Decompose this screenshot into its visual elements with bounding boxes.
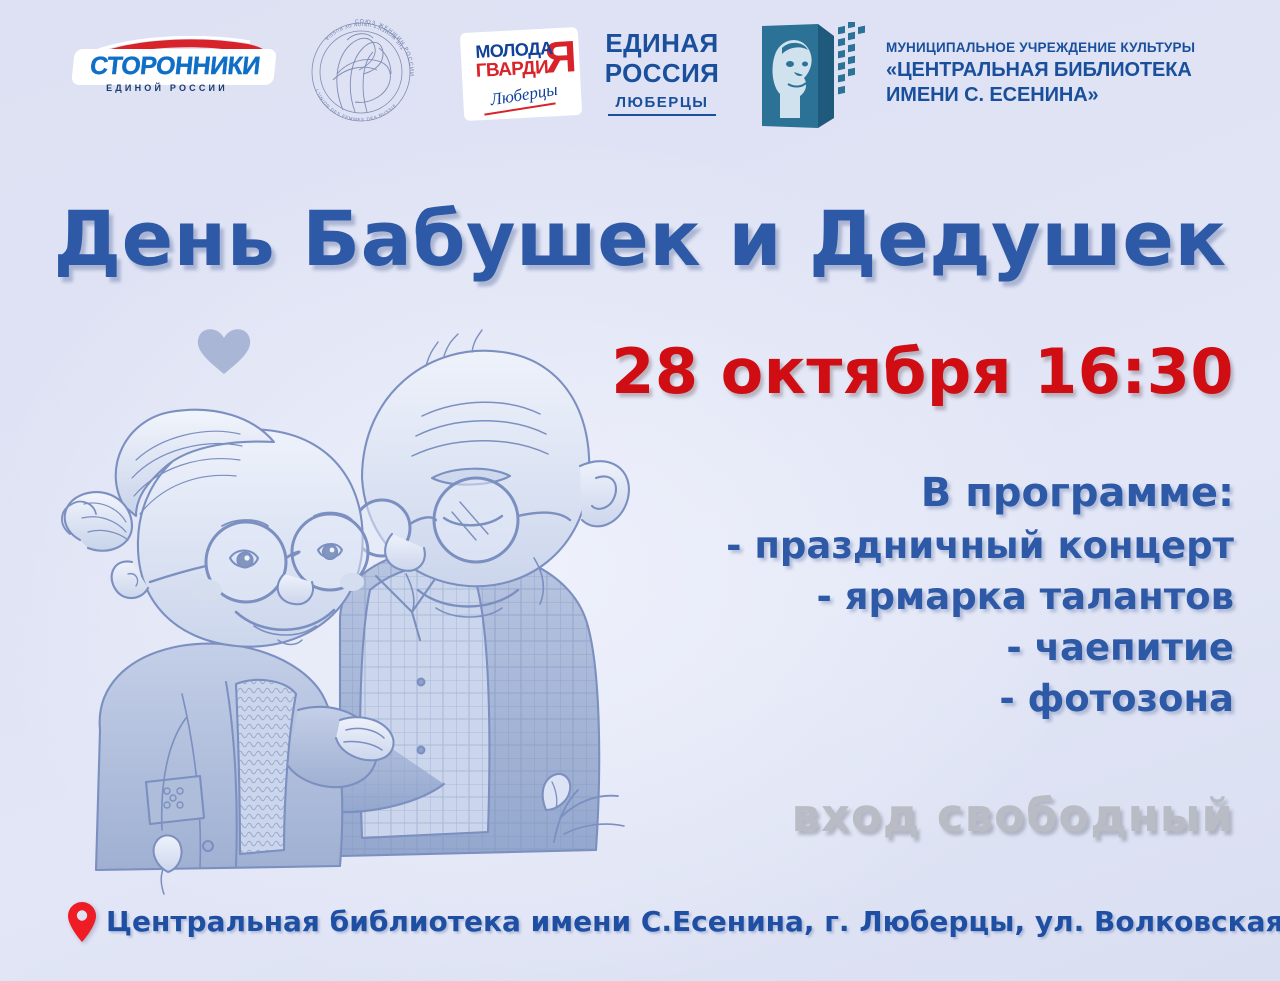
map-pin-icon [68,902,96,942]
library-line1: МУНИЦИПАЛЬНОЕ УЧРЕЖДЕНИЕ КУЛЬТУРЫ [886,38,1195,58]
library-esenin-mark-icon [760,22,870,130]
poster-canvas: СТОРОННИКИ ЕДИНОЙ РОССИИ [0,0,1280,981]
storonniki-subtitle: ЕДИНОЙ РОССИИ [82,83,252,93]
library-line3: ИМЕНИ С. ЕСЕНИНА» [886,83,1195,108]
program-item: - фотозона [674,673,1234,724]
edinaya-rossiya-line2: РОССИЯ [592,58,732,88]
program-block: В программе: - праздничный концерт - ярм… [674,466,1234,724]
program-heading: В программе: [674,466,1234,520]
venue-address-text: Центральная библиотека имени С.Есенина, … [106,904,1280,940]
storonniki-wordmark: СТОРОННИКИ [78,51,271,82]
event-date-time: 28 октября 16:30 [611,336,1234,408]
union-of-women-seal-logo: СОЮЗ ЖЕНЩИН РОССИИ THE WOMEN'S UNION OF … [303,14,419,130]
library-esenin-wordmark: МУНИЦИПАЛЬНОЕ УЧРЕЖДЕНИЕ КУЛЬТУРЫ «ЦЕНТР… [886,38,1195,108]
molodaya-gvardiya-logo: Я МОЛОДА ГВАРДИ Люберцы [462,30,580,118]
logo-strip: СТОРОННИКИ ЕДИНОЙ РОССИИ [0,0,1280,140]
union-of-women-seal-icon: СОЮЗ ЖЕНЩИН РОССИИ THE WOMEN'S UNION OF … [303,14,419,130]
program-item: - ярмарка талантов [674,571,1234,622]
page-title: День Бабушек и Дедушек [0,196,1280,282]
free-entry-note: вход свободный [792,788,1235,844]
heart-icon [198,329,250,374]
edinaya-rossiya-city: ЛЮБЕРЦЫ [592,94,732,111]
library-line2: «ЦЕНТРАЛЬНАЯ БИБЛИОТЕКА [886,58,1195,83]
edinaya-rossiya-line1: ЕДИНАЯ [592,28,732,58]
grandparents-hugging-illustration [40,290,640,900]
edinaya-rossiya-logo: ЕДИНАЯ РОССИЯ ЛЮБЕРЦЫ [592,28,732,116]
storonniki-logo: СТОРОННИКИ ЕДИНОЙ РОССИИ [72,36,284,100]
edinaya-rossiya-rule [608,114,716,116]
central-library-esenin-logo: МУНИЦИПАЛЬНОЕ УЧРЕЖДЕНИЕ КУЛЬТУРЫ «ЦЕНТР… [760,22,1210,132]
venue-address-row: Центральная библиотека имени С.Есенина, … [68,902,1280,942]
program-item: - чаепитие [674,622,1234,673]
program-item: - праздничный концерт [674,520,1234,571]
